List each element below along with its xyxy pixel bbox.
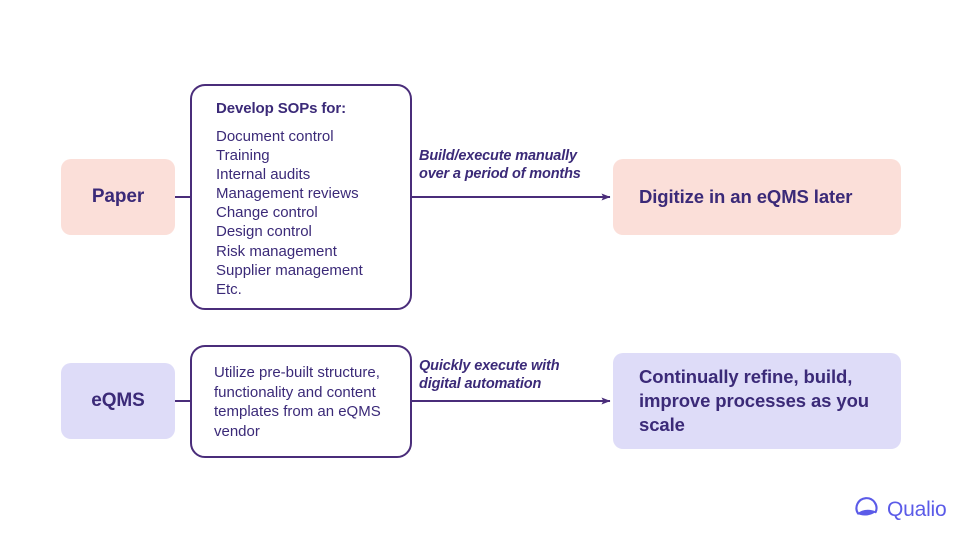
eqms-outcome-text: Continually refine, build, improve proce… — [639, 365, 901, 437]
eqms-label-text: eQMS — [91, 390, 144, 412]
list-item: Change control — [216, 203, 394, 222]
list-item: Document control — [216, 127, 394, 146]
paper-arrow-caption: Build/execute manually over a period of … — [419, 148, 619, 183]
eqms-detail-text: Utilize pre-built structure, functionali… — [214, 363, 398, 441]
list-item: Training — [216, 146, 394, 165]
paper-label-box: Paper — [61, 159, 175, 235]
list-item: Internal audits — [216, 165, 394, 184]
develop-sops-heading: Develop SOPs for: — [216, 100, 394, 117]
paper-label-text: Paper — [92, 186, 144, 208]
develop-sops-box: Develop SOPs for: Document control Train… — [190, 84, 412, 310]
list-item: Supplier management — [216, 261, 394, 280]
paper-outcome-box: Digitize in an eQMS later — [613, 159, 901, 235]
list-item: Design control — [216, 222, 394, 241]
eqms-arrow-caption: Quickly execute with digital automation — [419, 358, 619, 393]
qualio-logo: Qualio — [853, 492, 949, 526]
paper-outcome-text: Digitize in an eQMS later — [639, 185, 852, 209]
eqms-label-box: eQMS — [61, 363, 175, 439]
qualio-wordmark: Qualio — [887, 499, 947, 520]
list-item: Etc. — [216, 280, 394, 299]
qualio-circle-wave-icon — [853, 495, 881, 523]
list-item: Management reviews — [216, 184, 394, 203]
develop-sops-list: Document control Training Internal audit… — [216, 127, 394, 299]
eqms-detail-box: Utilize pre-built structure, functionali… — [190, 345, 412, 458]
connector-lines — [0, 0, 960, 540]
list-item: Risk management — [216, 242, 394, 261]
eqms-outcome-box: Continually refine, build, improve proce… — [613, 353, 901, 449]
diagram-canvas: Paper Develop SOPs for: Document control… — [0, 0, 960, 540]
